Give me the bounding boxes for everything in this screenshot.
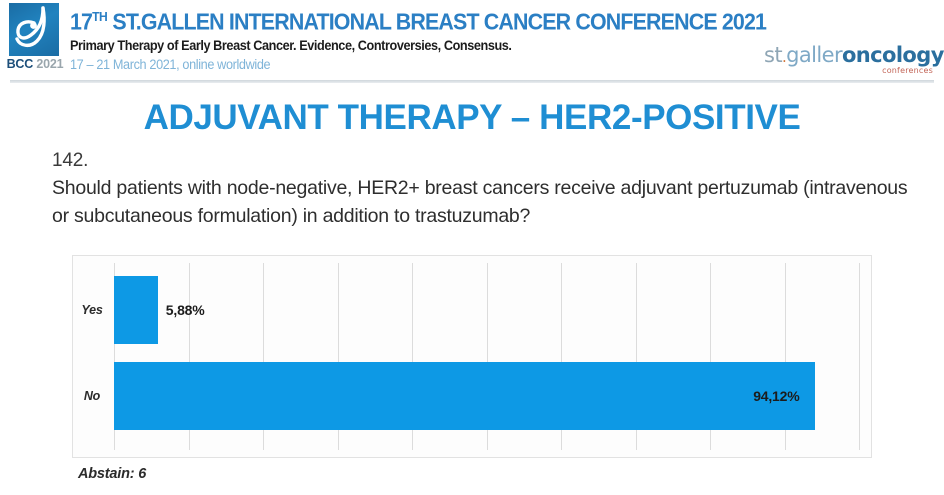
organizer-logo-subtext: conferences	[764, 66, 933, 75]
organizer-logo: st.galleroncology conferences	[764, 44, 936, 78]
chart-plot-area: Yes 5,88% No 94,12%	[114, 263, 859, 450]
question-number: 142.	[52, 148, 912, 174]
header-divider	[10, 80, 934, 83]
question-block: 142. Should patients with node-negative,…	[52, 148, 912, 230]
chart-bar-no	[114, 362, 815, 430]
chart-bar-yes	[114, 276, 158, 344]
conference-subtitle: Primary Therapy of Early Breast Cancer. …	[70, 37, 719, 54]
slide-header: BCC 2021 17TH ST.GALLEN INTERNATIONAL BR…	[0, 0, 944, 86]
chart-category-label-yes: Yes	[74, 303, 110, 317]
conference-title-ordinal: 17	[70, 9, 92, 35]
chart-value-label-yes: 5,88%	[166, 302, 205, 318]
chart-value-label-no: 94,12%	[753, 388, 799, 404]
chart-gridline	[859, 263, 860, 450]
organizer-logo-st: st	[764, 43, 782, 67]
logo-caption-year: 2021	[36, 57, 63, 71]
organizer-logo-galler: galler	[786, 43, 842, 67]
page-title: ADJUVANT THERAPY – HER2-POSITIVE	[0, 98, 944, 138]
chart-bar-row-no: No 94,12%	[114, 362, 859, 430]
organizer-logo-oncology: oncology	[842, 43, 944, 67]
conference-title: 17TH ST.GALLEN INTERNATIONAL BREAST CANC…	[70, 4, 712, 35]
header-text-block: 17TH ST.GALLEN INTERNATIONAL BREAST CANC…	[70, 4, 760, 73]
conference-logo: BCC 2021	[6, 3, 64, 75]
abstain-count: Abstain: 6	[78, 466, 146, 482]
chart-category-label-no: No	[74, 389, 110, 403]
conference-dates: 17 – 21 March 2021, online worldwide	[70, 56, 719, 73]
breast-cancer-conference-logo-icon	[9, 3, 59, 56]
logo-caption: BCC 2021	[6, 57, 64, 71]
logo-caption-main: BCC	[7, 57, 33, 71]
conference-title-ordinal-suffix: TH	[92, 9, 107, 24]
conference-title-rest: ST.GALLEN INTERNATIONAL BREAST CANCER CO…	[107, 9, 766, 35]
question-text: Should patients with node-negative, HER2…	[52, 174, 912, 230]
poll-results-chart: Yes 5,88% No 94,12%	[72, 255, 872, 458]
chart-bar-row-yes: Yes 5,88%	[114, 276, 859, 344]
